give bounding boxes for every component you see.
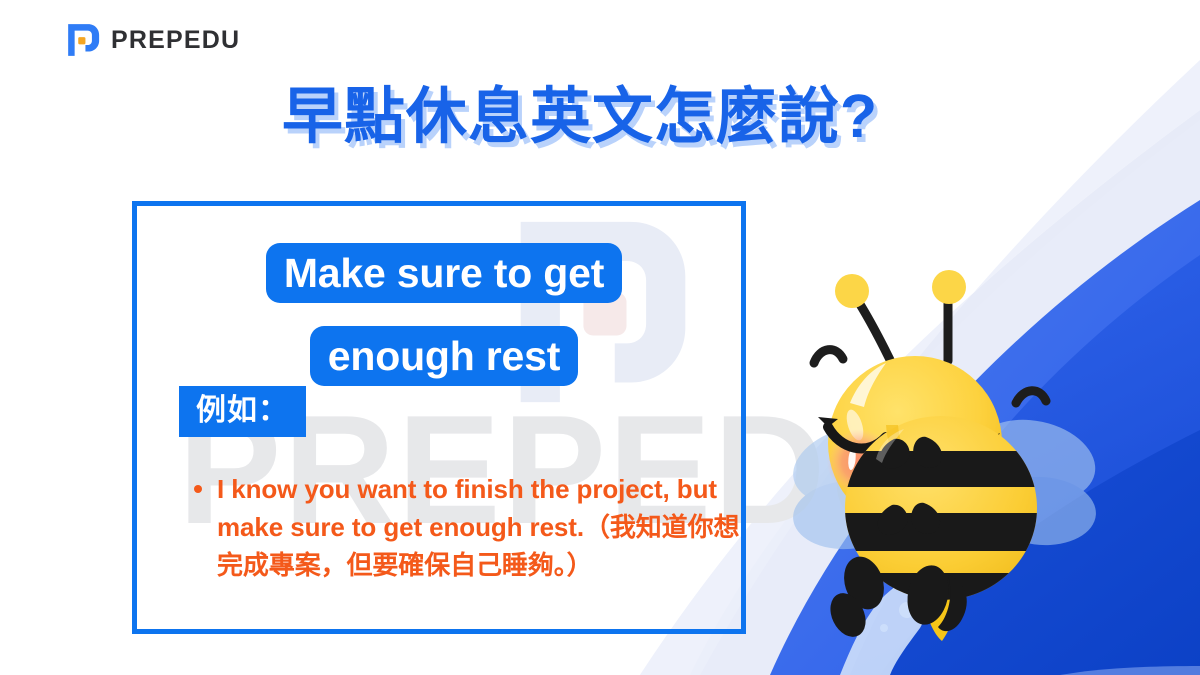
- example-list: I know you want to finish the project, b…: [183, 470, 742, 585]
- headline-line-2: enough rest: [310, 326, 578, 386]
- headline-highlight: Make sure to get enough rest: [137, 232, 751, 398]
- list-item: I know you want to finish the project, b…: [217, 470, 742, 585]
- content-card: Make sure to get enough rest 例如： I know …: [132, 201, 746, 634]
- slide-canvas: PREPEDU PREPEDU 早點休息英文怎麼說? Make sure to …: [0, 0, 1200, 675]
- headline-line-1: Make sure to get: [266, 243, 622, 303]
- brand-name: PREPEDU: [111, 28, 240, 53]
- example-label: 例如：: [179, 386, 306, 437]
- prepedu-logo-icon: [66, 22, 102, 58]
- bee-mascot: [776, 243, 1106, 643]
- page-title: 早點休息英文怎麼說?: [0, 84, 1160, 150]
- brand-logo: PREPEDU: [66, 22, 240, 58]
